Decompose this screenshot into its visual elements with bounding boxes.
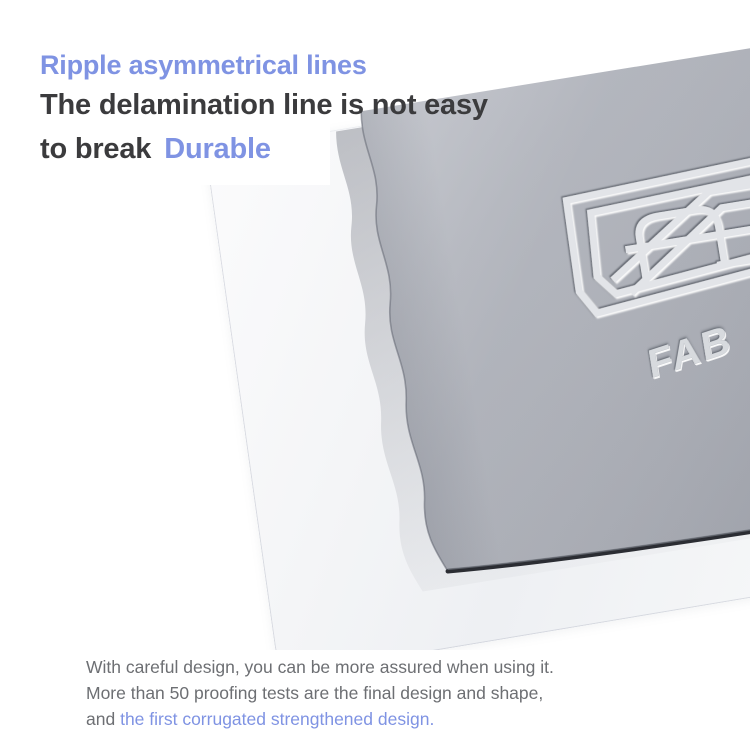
headline-line-2-text: to break (40, 133, 151, 165)
caption-line-1: With careful design, you can be more ass… (86, 654, 706, 680)
headline-block: Ripple asymmetrical lines The delaminati… (40, 48, 560, 171)
product-feature-page: FAB Ripple asymmetrical lines The delami… (0, 0, 750, 750)
headline-line-1: The delamination line is not easy (40, 83, 560, 127)
headline-line-2: to breakDurable (40, 127, 560, 171)
caption-line-2: More than 50 proofing tests are the fina… (86, 680, 706, 706)
headline-subtitle: Ripple asymmetrical lines (40, 48, 560, 83)
caption-line-3-prefix: and (86, 709, 115, 729)
headline-accent-durable: Durable (151, 133, 271, 165)
caption-line-3: and the first corrugated strengthened de… (86, 706, 706, 732)
caption-line-3-accent: the first corrugated strengthened design… (120, 709, 434, 729)
caption-block: With careful design, you can be more ass… (86, 654, 706, 732)
